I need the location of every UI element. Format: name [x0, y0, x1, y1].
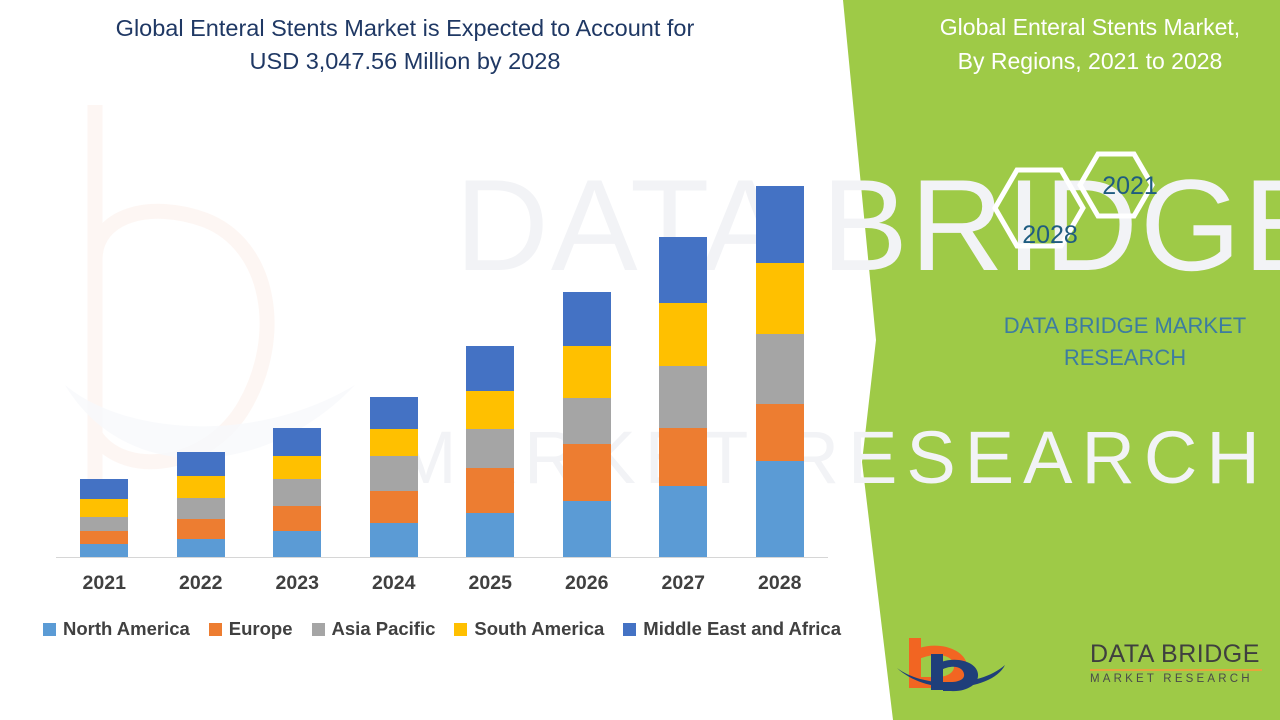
bar-segment: [80, 517, 128, 531]
x-axis-line: [56, 557, 828, 558]
bar-segment: [466, 468, 514, 513]
legend-swatch-icon: [454, 623, 467, 636]
legend-item[interactable]: Asia Pacific: [312, 618, 436, 640]
bar-column-2025: [466, 346, 514, 558]
legend-label: North America: [63, 618, 190, 640]
infographic-canvas: DATA BRIDGE MARKET RESEARCH Global Enter…: [0, 0, 1280, 720]
bar-segment: [80, 479, 128, 499]
legend-swatch-icon: [623, 623, 636, 636]
chart-title: Global Enteral Stents Market is Expected…: [60, 12, 750, 78]
chart-plot-area: [56, 90, 828, 558]
right-panel-brand: DATA BRIDGE MARKET RESEARCH: [955, 310, 1280, 374]
hexagon-2028-label: 2028: [1005, 221, 1095, 250]
bar-column-2028: [756, 186, 804, 558]
legend-swatch-icon: [209, 623, 222, 636]
bar-column-2021: [80, 479, 128, 558]
x-axis-label-2021: 2021: [56, 572, 152, 595]
legend-item[interactable]: North America: [43, 618, 190, 640]
legend-label: Asia Pacific: [332, 618, 436, 640]
hexagon-2021-label: 2021: [1085, 172, 1175, 201]
bar-segment: [659, 237, 707, 303]
x-axis-label-2023: 2023: [249, 572, 345, 595]
bar-segment: [273, 428, 321, 456]
bar-segment: [466, 513, 514, 558]
x-axis-label-2024: 2024: [346, 572, 442, 595]
databridge-logo-icon: [893, 632, 1108, 694]
legend-label: Europe: [229, 618, 293, 640]
bar-column-2024: [370, 397, 418, 558]
chart-title-line-1: Global Enteral Stents Market is Expected…: [60, 12, 750, 45]
bar-segment: [756, 263, 804, 334]
bar-segment: [466, 391, 514, 429]
bar-column-2026: [563, 292, 611, 558]
bar-segment: [756, 461, 804, 558]
logo-tagline: MARKET RESEARCH: [1090, 673, 1270, 685]
x-axis-label-2026: 2026: [539, 572, 635, 595]
bar-segment: [659, 366, 707, 428]
bar-segment: [370, 397, 418, 429]
legend-label: Middle East and Africa: [643, 618, 841, 640]
legend-item[interactable]: Europe: [209, 618, 293, 640]
chart-legend: North AmericaEuropeAsia PacificSouth Ame…: [56, 616, 828, 642]
x-axis-label-2022: 2022: [153, 572, 249, 595]
bar-segment: [273, 456, 321, 479]
right-panel-title: Global Enteral Stents Market, By Regions…: [915, 10, 1265, 78]
legend-item[interactable]: South America: [454, 618, 604, 640]
bar-segment: [563, 292, 611, 346]
chart-title-line-2: USD 3,047.56 Million by 2028: [60, 45, 750, 78]
right-panel-title-line-2: By Regions, 2021 to 2028: [915, 44, 1265, 78]
x-axis-label-2028: 2028: [732, 572, 828, 595]
bar-segment: [756, 404, 804, 461]
bar-segment: [273, 479, 321, 506]
bar-segment: [563, 444, 611, 501]
legend-swatch-icon: [43, 623, 56, 636]
legend-label: South America: [474, 618, 604, 640]
bar-segment: [756, 186, 804, 263]
bar-column-2027: [659, 237, 707, 558]
legend-swatch-icon: [312, 623, 325, 636]
bar-segment: [177, 476, 225, 498]
legend-item[interactable]: Middle East and Africa: [623, 618, 841, 640]
logo-text-block: DATA BRIDGE MARKET RESEARCH: [1090, 640, 1270, 685]
bar-segment: [756, 334, 804, 404]
bar-segment: [563, 346, 611, 398]
bar-segment: [466, 346, 514, 391]
bar-segment: [370, 429, 418, 456]
right-panel-title-line-1: Global Enteral Stents Market,: [915, 10, 1265, 44]
bar-segment: [273, 506, 321, 531]
right-panel-brand-line-2: RESEARCH: [955, 342, 1280, 374]
x-axis-labels: 20212022202320242025202620272028: [56, 572, 828, 600]
bar-segment: [80, 531, 128, 544]
bar-segment: [177, 539, 225, 558]
bar-segment: [370, 456, 418, 491]
bar-segment: [80, 544, 128, 558]
bar-segment: [563, 501, 611, 558]
hexagon-pair-graphic: [985, 138, 1185, 278]
bar-segment: [80, 499, 128, 517]
bar-segment: [659, 428, 707, 486]
bar-segment: [273, 531, 321, 558]
bar-column-2022: [177, 452, 225, 558]
bar-segment: [563, 398, 611, 444]
x-axis-label-2025: 2025: [442, 572, 538, 595]
bar-segment: [466, 429, 514, 468]
x-axis-label-2027: 2027: [635, 572, 731, 595]
bar-segment: [177, 498, 225, 519]
logo-divider: [1090, 669, 1262, 671]
right-panel-brand-line-1: DATA BRIDGE MARKET: [955, 310, 1280, 342]
bar-segment: [177, 452, 225, 476]
bar-segment: [659, 486, 707, 558]
bar-segment: [370, 491, 418, 523]
logo-name: DATA BRIDGE: [1090, 640, 1270, 668]
bar-segment: [370, 523, 418, 558]
bar-segment: [659, 303, 707, 366]
bar-column-2023: [273, 428, 321, 558]
bar-segment: [177, 519, 225, 539]
